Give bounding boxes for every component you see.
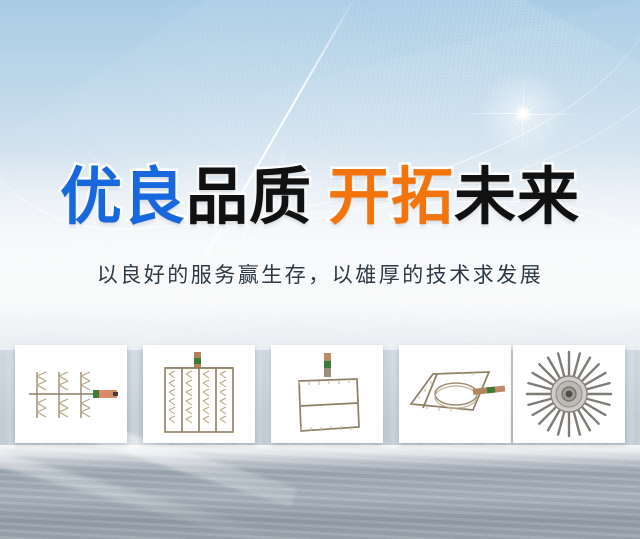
branch-rack-icon: [21, 354, 121, 434]
product-card-5[interactable]: [513, 345, 625, 443]
product-card-list: [0, 345, 640, 445]
product-card-1[interactable]: [15, 345, 127, 443]
radial-wheel-icon: [524, 349, 614, 439]
page-title: 优良品质开拓未来: [0, 166, 640, 228]
flare-core: [514, 105, 532, 123]
ring-tray-icon: [403, 356, 507, 432]
flare-ray: [523, 114, 585, 115]
grid-tray-icon: [285, 351, 369, 437]
ground-sheen: [0, 445, 640, 471]
product-card-2[interactable]: [143, 345, 255, 443]
comb-rack-icon: [156, 350, 242, 438]
product-card-4[interactable]: [399, 345, 511, 443]
product-card-3[interactable]: [271, 345, 383, 443]
headline-segment-3: 开拓: [328, 160, 454, 233]
promo-banner: 优良品质开拓未来 以良好的服务赢生存，以雄厚的技术求发展: [0, 0, 640, 539]
headline-segment-2: 品质: [186, 160, 312, 233]
page-subtitle: 以良好的服务赢生存，以雄厚的技术求发展: [0, 259, 640, 289]
headline-segment-1: 优良: [60, 160, 186, 233]
headline-segment-4: 未来: [454, 160, 580, 233]
